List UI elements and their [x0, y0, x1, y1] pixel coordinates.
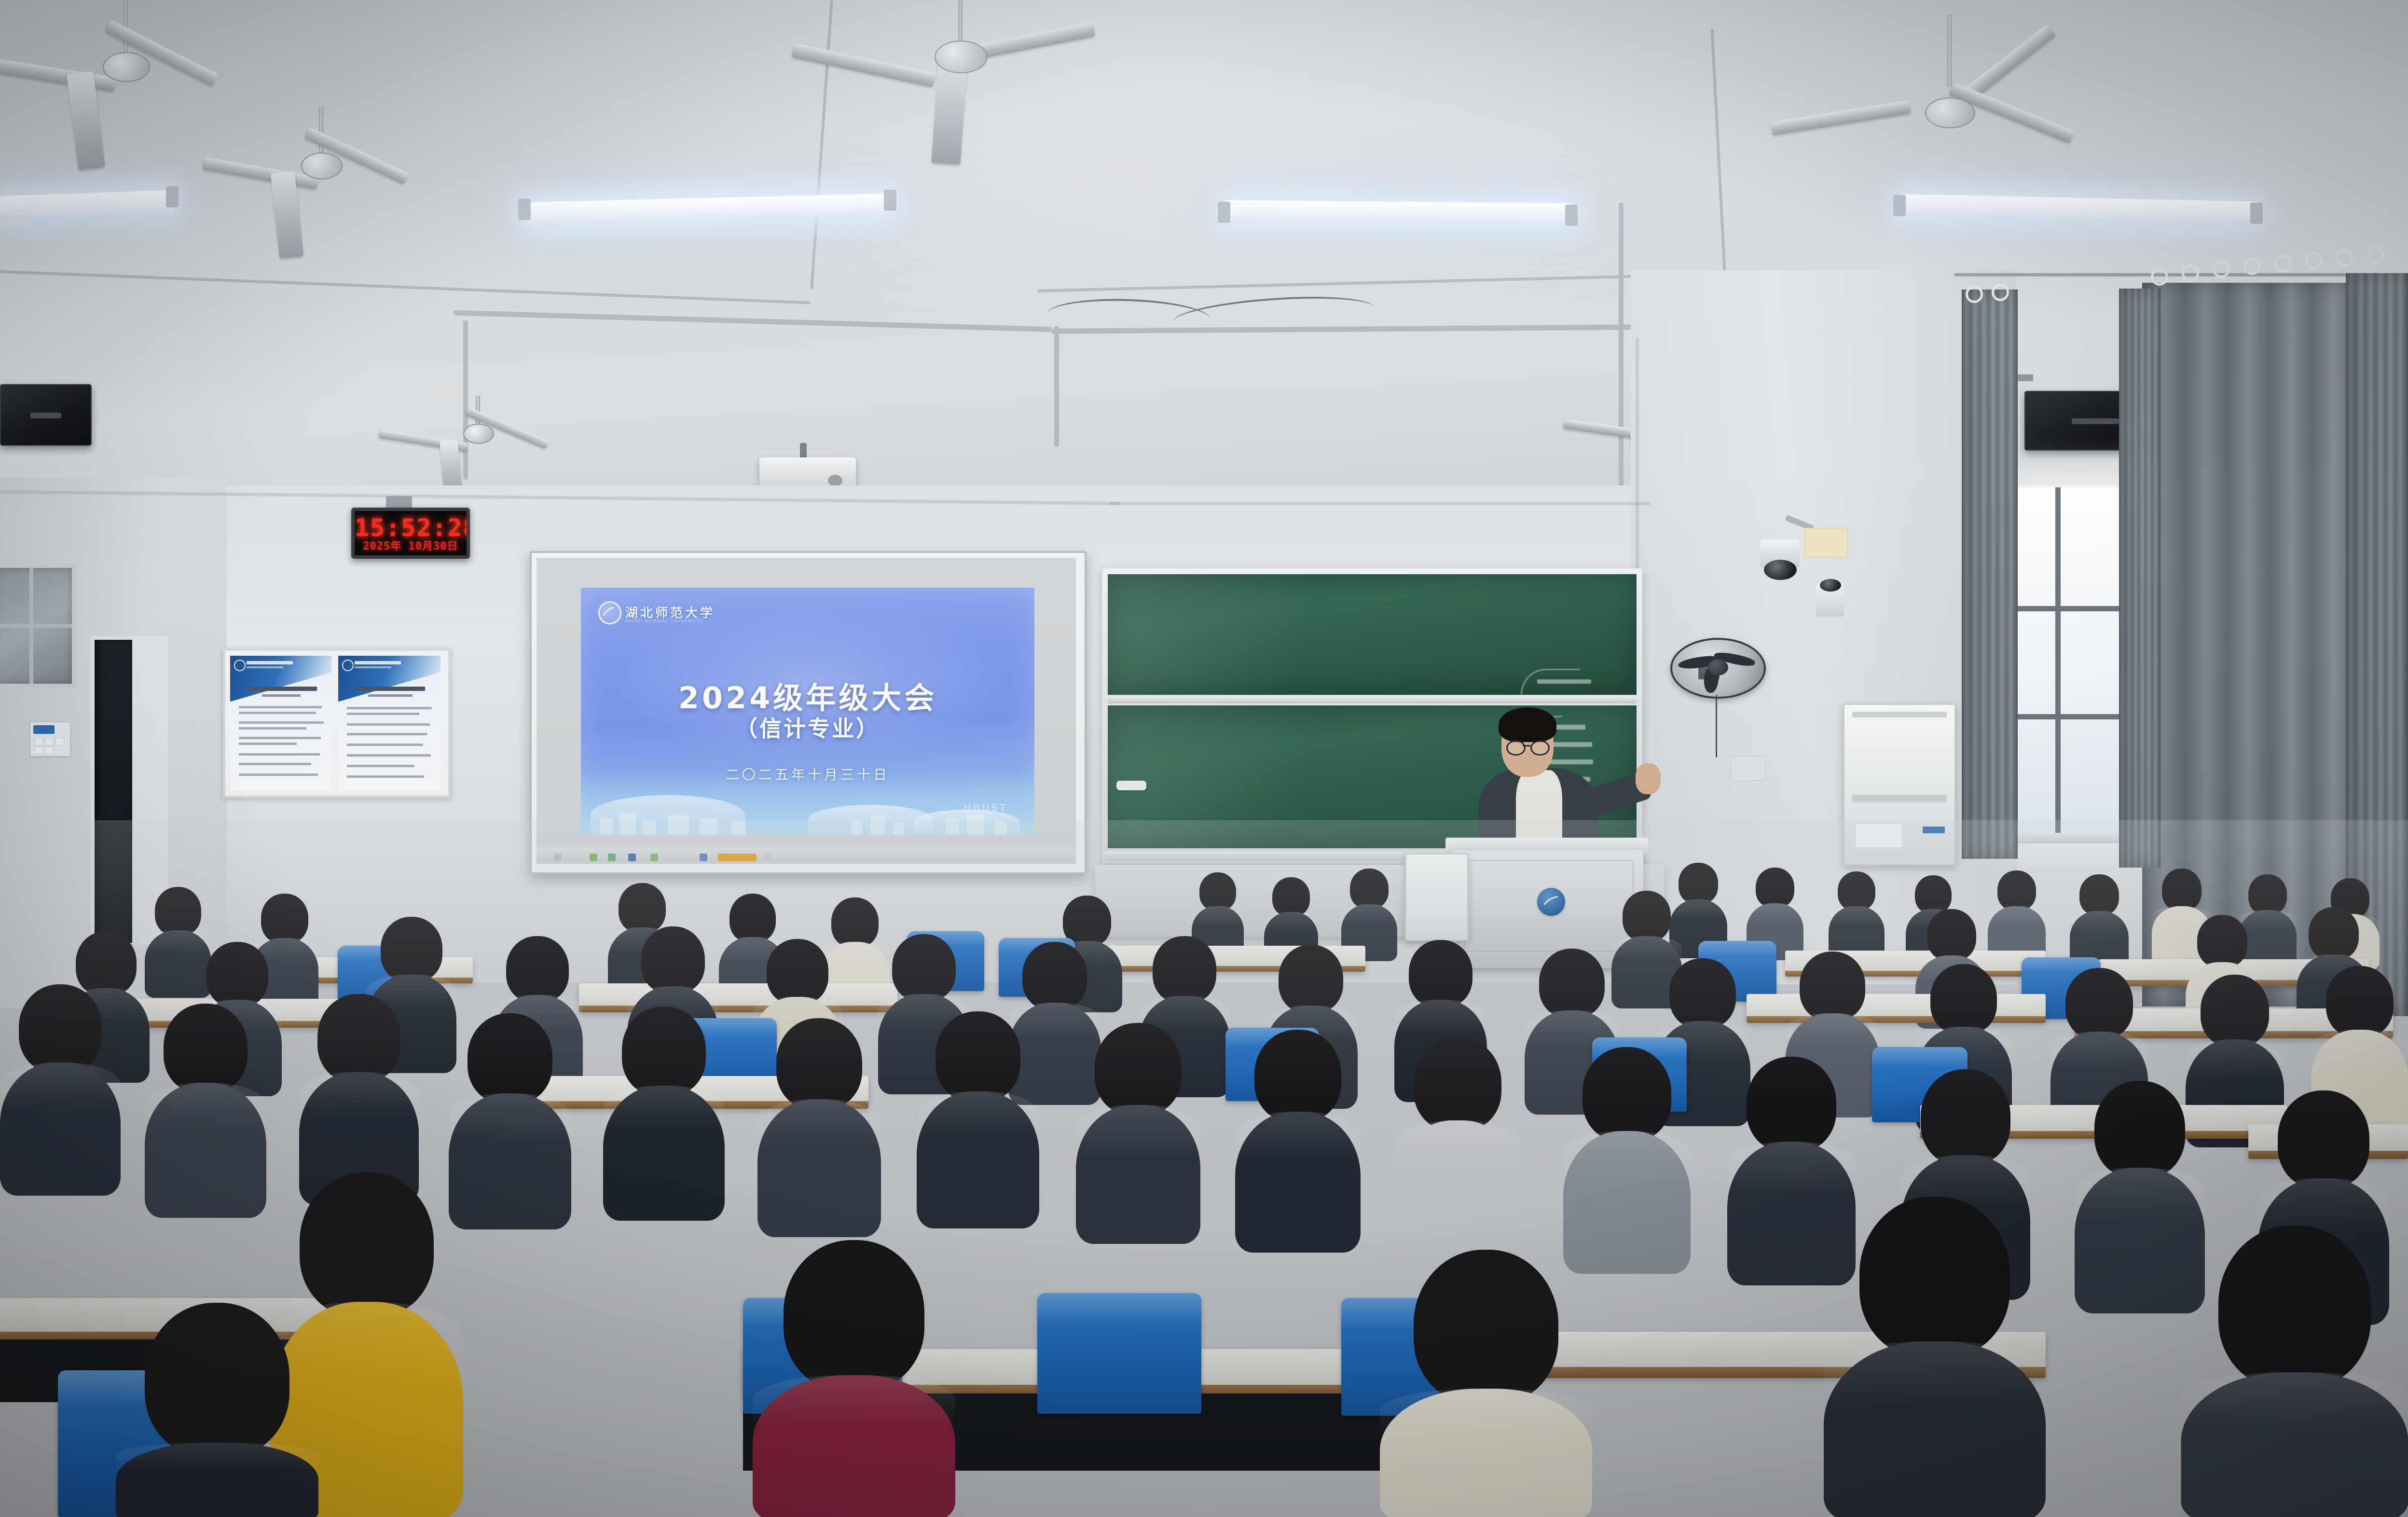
notice-text-line — [239, 773, 318, 776]
head — [1800, 952, 1865, 1021]
notice-text-line — [239, 763, 311, 765]
taskbar-icon[interactable] — [763, 854, 771, 861]
switch-button[interactable] — [34, 746, 43, 754]
skyline-building — [851, 820, 863, 835]
taskbar-icon[interactable] — [700, 854, 707, 861]
torso — [1394, 1120, 1521, 1262]
window-mullion — [0, 624, 72, 628]
head — [2065, 968, 2133, 1039]
torso — [757, 1099, 881, 1237]
tube-end-cap — [2250, 203, 2263, 224]
head — [1022, 942, 1087, 1010]
head — [1414, 1037, 1501, 1131]
curtain-ring — [2213, 261, 2230, 278]
curtain-ring — [2367, 246, 2384, 263]
curtain-ring — [1966, 286, 1983, 303]
curtain-ring — [2182, 264, 2199, 282]
head — [1409, 940, 1472, 1007]
blackboard-eraser[interactable] — [1116, 781, 1146, 790]
notice-poster — [338, 656, 440, 791]
skyline-building — [994, 821, 1006, 835]
taskbar[interactable] — [537, 847, 1076, 864]
audience-member — [1829, 871, 1885, 957]
audience-member — [757, 1018, 881, 1227]
head — [155, 887, 201, 936]
university-logo-icon — [234, 660, 246, 671]
skyline-building — [643, 820, 656, 835]
notice-university-name-en — [247, 666, 283, 668]
torso — [1235, 1112, 1361, 1253]
ceiling-fan — [1824, 14, 2075, 174]
head — [1254, 1030, 1341, 1122]
speaker-hair — [1499, 707, 1556, 742]
speaker-glasses-bridge — [1523, 745, 1530, 746]
window-frame-vertical — [2055, 487, 2061, 835]
curtain-ring — [2243, 258, 2261, 275]
head — [1153, 936, 1216, 1004]
taskbar-icon[interactable] — [650, 854, 658, 861]
tube-end-cap — [884, 190, 896, 211]
doorway[interactable] — [95, 640, 132, 943]
taskbar-icon[interactable] — [628, 854, 636, 861]
notice-university-name-en — [355, 666, 391, 668]
audience-member — [1380, 1250, 1592, 1517]
auditorium-chair[interactable] — [1037, 1293, 1201, 1414]
notice-text-line — [347, 744, 423, 746]
notice-university-name — [247, 661, 293, 664]
notice-text-line — [239, 706, 322, 708]
skyline-building — [700, 818, 718, 835]
curtain-ring — [2151, 268, 2168, 286]
ceiling-fan — [10, 0, 241, 159]
fluorescent-tube-light — [1225, 200, 1573, 224]
window-curtain — [2119, 289, 2160, 868]
switch-button[interactable] — [34, 738, 43, 745]
taskbar-icon[interactable] — [590, 854, 597, 861]
projection-screen-surface: 湖北师范大学 HUBEI NORMAL UNIVERSITY 2024级年级大会… — [537, 558, 1076, 864]
head — [19, 984, 102, 1073]
head — [261, 894, 308, 944]
head — [1279, 945, 1343, 1013]
skyline-building — [894, 822, 904, 835]
taskbar-icon[interactable] — [718, 854, 757, 861]
notice-text-line — [347, 733, 427, 735]
head — [145, 1303, 289, 1457]
head — [767, 939, 828, 1005]
wall-junction-box — [1804, 528, 1848, 558]
projection-screen-housing: 湖北师范大学 HUBEI NORMAL UNIVERSITY 2024级年级大会… — [530, 551, 1087, 874]
speaker-grille — [30, 413, 61, 418]
wall-outlet-box — [1730, 756, 1766, 781]
torso — [2181, 1372, 2408, 1517]
audience-member — [603, 1007, 725, 1212]
ceiling-fan — [830, 0, 1090, 164]
torso-maroon — [753, 1375, 955, 1517]
university-emblem-icon — [1537, 888, 1565, 916]
torso — [145, 1083, 266, 1218]
curtain-ring — [1992, 284, 2009, 301]
notice-text-line — [347, 723, 430, 726]
notice-poster — [230, 656, 331, 791]
notice-text-line — [239, 737, 321, 739]
blackboard-upper — [1108, 574, 1637, 695]
torso — [0, 1062, 121, 1196]
ceiling-fan — [217, 106, 425, 251]
audience-member — [1394, 1037, 1521, 1252]
notice-text-line — [239, 712, 316, 714]
audience-member — [2070, 874, 2129, 963]
audience-member — [449, 1013, 571, 1220]
teaching-console — [1405, 853, 1469, 941]
head — [1679, 863, 1718, 904]
head — [506, 936, 569, 1003]
lecture-hall-photo: 15:52:28 2025年 10月30日 — [0, 0, 2408, 1517]
curtain-rod — [1954, 273, 2408, 276]
curtain-ring — [2274, 255, 2292, 272]
head — [1997, 870, 2036, 911]
projector-lens — [828, 475, 842, 486]
head — [164, 1004, 248, 1093]
head — [1838, 871, 1875, 911]
switch-button[interactable] — [45, 746, 54, 754]
notice-subtitle — [262, 694, 301, 697]
head — [2248, 874, 2287, 915]
audience-member — [299, 994, 419, 1197]
switch-label-strip — [33, 725, 55, 734]
head — [729, 894, 776, 943]
head — [892, 934, 956, 1002]
audience-member — [753, 1240, 955, 1517]
head — [1095, 1023, 1182, 1116]
skyline-building — [600, 818, 613, 835]
head — [1272, 877, 1310, 917]
speaker-glasses-right — [1530, 740, 1550, 756]
switch-button[interactable] — [55, 738, 64, 745]
notice-text-line — [347, 713, 419, 715]
floor-ac-unit — [1843, 703, 1956, 866]
head — [1199, 872, 1236, 911]
slide-university-name-en: HUBEI NORMAL UNIVERSITY — [625, 619, 704, 624]
skyline-building — [946, 819, 959, 835]
wall-fan — [1670, 638, 1766, 699]
audience-member — [2181, 1226, 2408, 1517]
wall-fan-pull-cord[interactable] — [1716, 695, 1717, 758]
university-logo-icon — [598, 601, 621, 624]
taskbar-icon[interactable] — [554, 854, 562, 861]
head — [1930, 964, 1997, 1034]
notice-text-line — [347, 775, 424, 778]
notice-university-name — [355, 661, 401, 664]
audience-member — [0, 984, 121, 1187]
head — [300, 1172, 434, 1317]
speaker-hand — [1636, 763, 1661, 794]
head — [206, 942, 268, 1007]
skyline-building — [619, 813, 636, 835]
audience-member — [1988, 870, 2046, 958]
light-switch-panel[interactable] — [30, 722, 70, 757]
head — [2197, 915, 2247, 968]
ac-vent — [1852, 712, 1947, 717]
speaker-glasses-left — [1506, 740, 1526, 756]
curtain-ring — [2336, 249, 2353, 266]
wall-conduit-vertical — [1054, 326, 1059, 447]
torso — [1076, 1105, 1200, 1244]
switch-button[interactable] — [45, 738, 54, 745]
notice-title — [247, 687, 317, 691]
head — [1582, 1047, 1671, 1142]
tube-end-cap — [518, 199, 531, 220]
head — [641, 926, 705, 994]
tube-end-cap — [1565, 205, 1578, 226]
slide-watermark: HBUST — [963, 802, 1007, 814]
skyline-building — [870, 816, 885, 835]
wall-speaker — [0, 384, 92, 446]
skyline-building — [668, 815, 689, 835]
left-small-window — [0, 564, 76, 688]
torso — [1824, 1341, 2046, 1517]
audience-member — [917, 1011, 1039, 1219]
head — [1921, 1069, 2010, 1166]
audience-member — [1076, 1023, 1200, 1233]
head — [1539, 949, 1605, 1018]
slide-subtitle: （信计专业） — [581, 711, 1034, 743]
head — [1414, 1250, 1558, 1404]
torso — [116, 1443, 318, 1517]
curtain-ring — [2305, 252, 2323, 269]
tube-end-cap — [1893, 195, 1906, 216]
head — [784, 1240, 924, 1391]
ac-vent — [1852, 795, 1947, 802]
head — [2162, 869, 2202, 911]
audience-member — [145, 1004, 266, 1208]
head — [1350, 869, 1389, 909]
chalk-handwriting — [1537, 679, 1591, 684]
ac-brand-badge — [1923, 827, 1945, 833]
head — [2094, 1081, 2185, 1178]
notice-text-line — [239, 743, 297, 745]
skyline-building — [967, 814, 984, 835]
head — [381, 917, 442, 982]
head — [1747, 1057, 1836, 1152]
window-curtain — [1962, 290, 2018, 859]
notice-text-line — [347, 754, 431, 757]
wall-trim-band — [1110, 502, 1650, 505]
head — [2218, 1226, 2371, 1389]
slide-title: 2024级年级大会 — [581, 674, 1034, 717]
head — [1915, 875, 1952, 914]
clock-date: 2025年 10月30日 — [355, 538, 467, 553]
head — [2079, 874, 2119, 916]
wall-fan-hub — [1708, 659, 1728, 676]
notice-text-line — [347, 707, 432, 709]
notice-text-line — [239, 753, 320, 756]
head — [2201, 975, 2269, 1047]
head — [2326, 966, 2394, 1037]
audience-member — [1235, 1030, 1361, 1242]
notice-subtitle — [368, 694, 413, 697]
university-logo-icon — [342, 660, 354, 671]
notice-text-line — [347, 765, 414, 767]
speaker-grille — [2072, 418, 2119, 424]
head — [2278, 1090, 2369, 1189]
torso — [603, 1086, 725, 1221]
head — [1859, 1197, 2010, 1358]
audience-member — [116, 1303, 318, 1517]
head — [619, 883, 666, 933]
notice-text-line — [239, 727, 306, 730]
audience-member — [1563, 1047, 1691, 1263]
secondary-camera-dome — [1820, 579, 1841, 592]
blackboard-divider-rail — [1108, 697, 1637, 703]
torso — [917, 1091, 1039, 1228]
head — [776, 1018, 862, 1110]
notice-title — [356, 687, 425, 691]
ac-label — [1855, 824, 1902, 848]
notice-board-frame — [223, 648, 451, 798]
head — [622, 1007, 706, 1096]
head — [1669, 958, 1736, 1029]
notice-text-line — [239, 721, 324, 724]
presentation-slide: 湖北师范大学 HUBEI NORMAL UNIVERSITY 2024级年级大会… — [581, 588, 1034, 835]
led-clock: 15:52:28 2025年 10月30日 — [351, 508, 470, 559]
audience-member — [1824, 1197, 2046, 1517]
skyline-building — [731, 821, 746, 835]
head — [1623, 891, 1671, 942]
audience-member — [1341, 869, 1397, 955]
taskbar-icon[interactable] — [608, 854, 616, 861]
tube-end-cap — [166, 186, 179, 207]
head — [317, 994, 400, 1083]
head — [1927, 909, 1976, 961]
torso — [449, 1093, 571, 1229]
security-camera-dome — [1764, 560, 1797, 580]
head — [2309, 907, 2359, 960]
tube-end-cap — [1218, 202, 1230, 223]
head — [936, 1011, 1020, 1102]
torso-cream — [1380, 1389, 1592, 1517]
head — [468, 1013, 552, 1104]
head — [1756, 868, 1794, 908]
